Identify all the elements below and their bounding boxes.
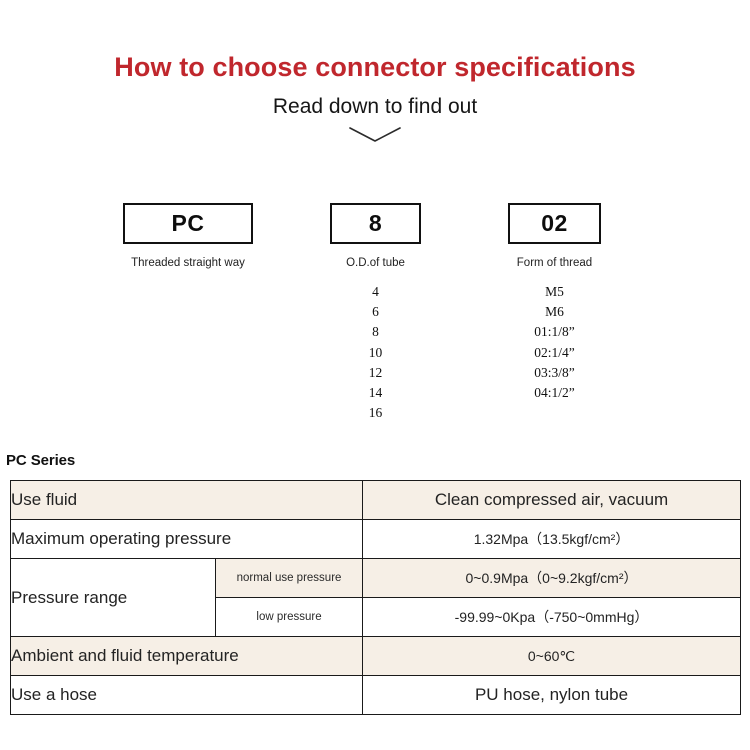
- spec-table: Use fluid Clean compressed air, vacuum M…: [10, 480, 741, 715]
- code-column-thread: 02 Form of thread M5 M6 01:1/8” 02:1/4” …: [508, 203, 601, 403]
- row-sublabel: normal use pressure: [216, 559, 363, 598]
- row-label: Use a hose: [11, 676, 363, 715]
- option-item: 01:1/8”: [508, 322, 601, 342]
- option-item: 02:1/4”: [508, 343, 601, 363]
- row-label: Use fluid: [11, 481, 363, 520]
- row-value: 0~60℃: [363, 637, 741, 676]
- option-item: 10: [330, 343, 421, 363]
- row-sublabel: low pressure: [216, 598, 363, 637]
- chevron-down-icon: [347, 125, 403, 147]
- row-label: Pressure range: [11, 559, 216, 637]
- option-item: 4: [330, 282, 421, 302]
- option-list-od: 4 6 8 10 12 14 16: [330, 282, 421, 423]
- option-item: 16: [330, 403, 421, 423]
- code-box-od: 8: [330, 203, 421, 244]
- code-value-series: PC: [172, 210, 205, 237]
- table-row: Pressure range normal use pressure 0~0.9…: [11, 559, 741, 598]
- code-caption-od: O.D.of tube: [330, 256, 421, 270]
- option-item: 14: [330, 383, 421, 403]
- row-label: Ambient and fluid temperature: [11, 637, 363, 676]
- table-row: Ambient and fluid temperature 0~60℃: [11, 637, 741, 676]
- code-box-thread: 02: [508, 203, 601, 244]
- option-item: 04:1/2”: [508, 383, 601, 403]
- row-label: Maximum operating pressure: [11, 520, 363, 559]
- code-caption-series: Threaded straight way: [123, 256, 253, 270]
- code-value-thread: 02: [541, 210, 568, 237]
- code-value-od: 8: [369, 210, 382, 237]
- option-item: 6: [330, 302, 421, 322]
- row-value: Clean compressed air, vacuum: [363, 481, 741, 520]
- row-value: -99.99~0Kpa（-750~0mmHg）: [363, 598, 741, 637]
- page-subtitle: Read down to find out: [0, 82, 750, 119]
- code-box-series: PC: [123, 203, 253, 244]
- option-item: 8: [330, 322, 421, 342]
- code-column-series: PC Threaded straight way: [123, 203, 253, 282]
- option-item: M6: [508, 302, 601, 322]
- page-title: How to choose connector specifications: [0, 0, 750, 82]
- row-value: 1.32Mpa（13.5kgf/cm²）: [363, 520, 741, 559]
- table-row: Use a hose PU hose, nylon tube: [11, 676, 741, 715]
- table-row: Use fluid Clean compressed air, vacuum: [11, 481, 741, 520]
- code-column-od: 8 O.D.of tube 4 6 8 10 12 14 16: [330, 203, 421, 423]
- row-value: PU hose, nylon tube: [363, 676, 741, 715]
- option-item: 03:3/8”: [508, 363, 601, 383]
- spec-table-heading: PC Series: [6, 452, 75, 469]
- option-list-thread: M5 M6 01:1/8” 02:1/4” 03:3/8” 04:1/2”: [508, 282, 601, 403]
- option-item: M5: [508, 282, 601, 302]
- option-item: 12: [330, 363, 421, 383]
- code-caption-thread: Form of thread: [508, 256, 601, 270]
- connector-code-breakdown: PC Threaded straight way 8 O.D.of tube 4…: [0, 203, 750, 443]
- row-value: 0~0.9Mpa（0~9.2kgf/cm²）: [363, 559, 741, 598]
- page-header: How to choose connector specifications R…: [0, 0, 750, 151]
- chevron-wrap: [0, 125, 750, 151]
- table-row: Maximum operating pressure 1.32Mpa（13.5k…: [11, 520, 741, 559]
